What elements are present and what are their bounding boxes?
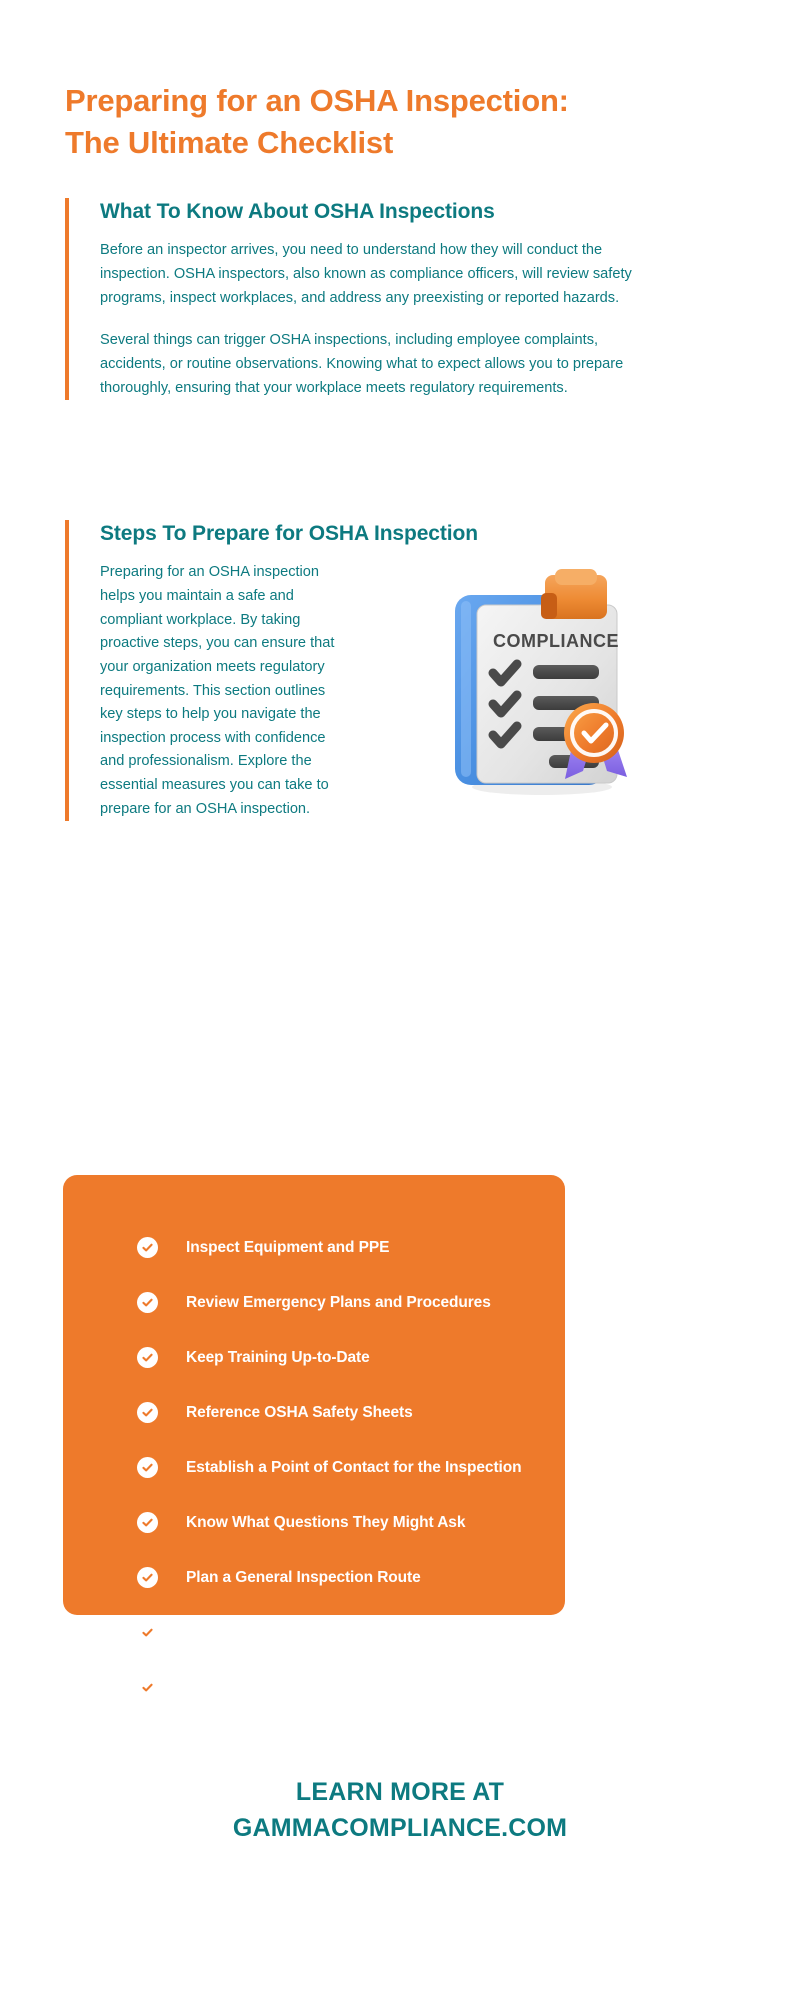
compliance-clipboard-illustration: COMPLIANCE bbox=[437, 565, 652, 800]
paragraph: Before an inspector arrives, you need to… bbox=[100, 239, 665, 310]
check-circle-icon bbox=[137, 1512, 158, 1533]
list-item[interactable]: Establish a Point of Contact for the Ins… bbox=[97, 1447, 531, 1488]
list-item-label: Take Your Own Notes During the Inspectio… bbox=[186, 1680, 503, 1696]
check-circle-icon bbox=[137, 1677, 158, 1698]
list-item[interactable]: Take Your Own Notes During the Inspectio… bbox=[97, 1667, 531, 1708]
section-heading-steps-to-prepare: Steps To Prepare for OSHA Inspection bbox=[100, 520, 665, 547]
title-heading: Preparing for an OSHA Inspection: The Ul… bbox=[65, 80, 665, 164]
list-item-label: Inspect Equipment and PPE bbox=[186, 1240, 389, 1256]
title-line-1: Preparing for an OSHA Inspection: bbox=[65, 80, 665, 122]
check-circle-icon bbox=[137, 1402, 158, 1423]
list-item[interactable]: Inspect Equipment and PPE bbox=[97, 1227, 531, 1268]
section-steps-to-prepare: Steps To Prepare for OSHA Inspection Pre… bbox=[65, 520, 665, 821]
list-item-label: Have Records and Documentation Available bbox=[186, 1625, 506, 1641]
list-item[interactable]: Plan a General Inspection Route bbox=[97, 1557, 531, 1598]
check-circle-icon bbox=[137, 1292, 158, 1313]
section-heading-what-to-know: What To Know About OSHA Inspections bbox=[100, 198, 665, 225]
check-circle-icon bbox=[137, 1237, 158, 1258]
paragraph: Preparing for an OSHA inspection helps y… bbox=[100, 561, 345, 821]
clipboard-title-text: COMPLIANCE bbox=[493, 631, 619, 651]
list-item[interactable]: Know What Questions They Might Ask bbox=[97, 1502, 531, 1543]
section-body-steps-to-prepare: Preparing for an OSHA inspection helps y… bbox=[100, 561, 345, 821]
page-title: Preparing for an OSHA Inspection: The Ul… bbox=[65, 80, 665, 164]
list-item[interactable]: Have Records and Documentation Available bbox=[97, 1612, 531, 1653]
title-line-2: The Ultimate Checklist bbox=[65, 122, 665, 164]
list-item-label: Review Emergency Plans and Procedures bbox=[186, 1295, 491, 1311]
check-circle-icon bbox=[137, 1457, 158, 1478]
section-what-to-know: What To Know About OSHA Inspections Befo… bbox=[65, 198, 665, 400]
section-body-what-to-know: Before an inspector arrives, you need to… bbox=[100, 239, 665, 400]
check-circle-icon bbox=[137, 1347, 158, 1368]
list-item-label: Plan a General Inspection Route bbox=[186, 1570, 421, 1586]
list-item[interactable]: Review Emergency Plans and Procedures bbox=[97, 1282, 531, 1323]
checklist-panel: Inspect Equipment and PPE Review Emergen… bbox=[63, 1175, 565, 1615]
list-item-label: Reference OSHA Safety Sheets bbox=[186, 1405, 413, 1421]
list-item[interactable]: Reference OSHA Safety Sheets bbox=[97, 1392, 531, 1433]
list-item-label: Know What Questions They Might Ask bbox=[186, 1515, 465, 1531]
paragraph: Several things can trigger OSHA inspecti… bbox=[100, 329, 665, 400]
check-circle-icon bbox=[137, 1567, 158, 1588]
list-item-label: Keep Training Up-to-Date bbox=[186, 1350, 370, 1366]
list-item-label: Establish a Point of Contact for the Ins… bbox=[186, 1460, 521, 1476]
list-item[interactable]: Keep Training Up-to-Date bbox=[97, 1337, 531, 1378]
footer-line-2[interactable]: GAMMACOMPLIANCE.COM bbox=[0, 1811, 800, 1847]
check-circle-icon bbox=[137, 1622, 158, 1643]
footer-line-1: LEARN MORE AT bbox=[0, 1775, 800, 1811]
infographic-page: Preparing for an OSHA Inspection: The Ul… bbox=[0, 0, 800, 2000]
footer-cta: LEARN MORE AT GAMMACOMPLIANCE.COM bbox=[0, 1775, 800, 1846]
